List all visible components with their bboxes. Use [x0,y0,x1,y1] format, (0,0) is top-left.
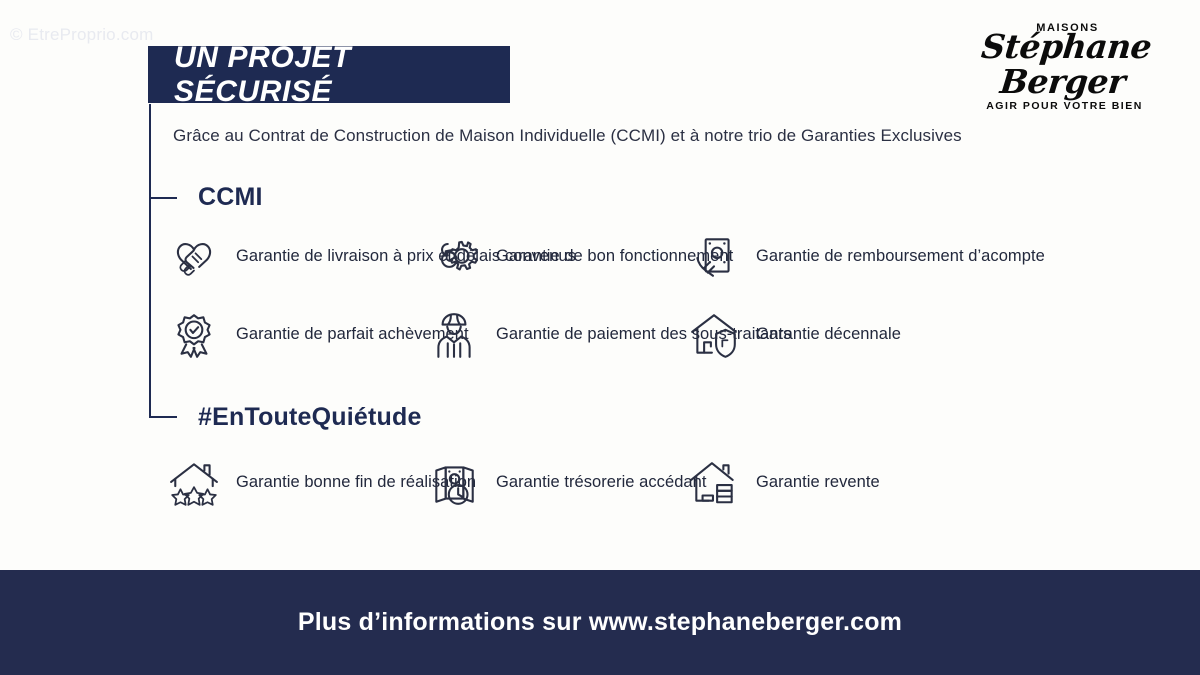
guarantee-label: Garantie décennale [756,324,901,346]
house-shield-icon [686,307,742,363]
guarantee-item-remboursement: Garantie de remboursement d’acompte [686,229,1045,285]
footer-bar: Plus d’informations sur www.stephaneberg… [0,570,1200,675]
guarantee-label: Garantie de remboursement d’acompte [756,246,1045,268]
banknotes-clock-icon [426,455,482,511]
bracket-tick-quietude [149,416,177,418]
section-heading-quietude: #EnTouteQuiétude [198,403,422,432]
house-stars-icon [166,455,222,511]
section-heading-ccmi: CCMI [198,183,263,212]
guarantee-label: Garantie revente [756,472,880,494]
award-rosette-icon [166,307,222,363]
watermark: © EtreProprio.com [10,25,153,45]
page-subtitle: Grâce au Contrat de Construction de Mais… [173,126,962,146]
page-title: UN PROJET SÉCURISÉ [174,41,510,109]
logo-brand-name: Stéphane Berger [953,30,1175,99]
guarantee-item-revente: Garantie revente [686,455,880,511]
house-coins-icon [686,455,742,511]
hand-banknote-icon [686,229,742,285]
page-title-box: UN PROJET SÉCURISÉ [148,46,510,103]
guarantee-label: Garantie trésorerie accédant [496,472,707,494]
footer-text[interactable]: Plus d’informations sur www.stephaneberg… [298,608,902,637]
guarantee-item-parfait-achevement: Garantie de parfait achèvement [166,307,469,363]
bracket-vertical-line [149,104,151,418]
guarantee-item-tresorerie: Garantie trésorerie accédant [426,455,707,511]
bracket-tick-ccmi [149,197,177,199]
logo-tagline: AGIR POUR VOTRE BIEN [957,100,1172,112]
brand-logo: MAISONS Stéphane Berger AGIR POUR VOTRE … [957,22,1172,112]
slide-root: © EtreProprio.com MAISONS Stéphane Berge… [0,0,1200,675]
guarantee-item-decennale: Garantie décennale [686,307,901,363]
gears-icon [426,229,482,285]
handshake-icon [166,229,222,285]
construction-worker-icon [426,307,482,363]
